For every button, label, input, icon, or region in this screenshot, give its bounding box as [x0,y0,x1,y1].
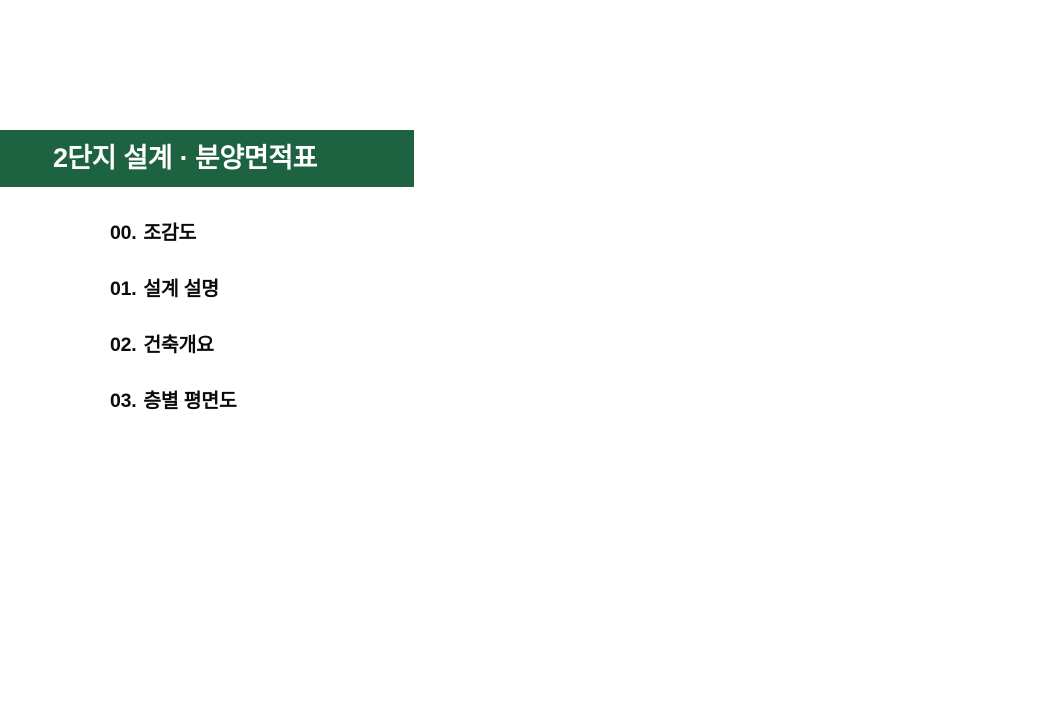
toc-item-number: 01. [110,276,137,302]
toc-item-label: 층별 평면도 [144,388,237,414]
toc-item-number: 02. [110,332,137,358]
section-title-bar: 2단지 설계 · 분양면적표 [0,130,414,187]
toc-item-label: 조감도 [144,220,197,246]
toc-item-3[interactable]: 03. 층별 평면도 [110,388,530,444]
toc-item-label: 건축개요 [144,332,215,358]
slide-canvas: 2단지 설계 · 분양면적표 00. 조감도 01. 설계 설명 02. 건축개… [0,0,1040,720]
toc-item-1[interactable]: 01. 설계 설명 [110,276,530,332]
page-title: 2단지 설계 · 분양면적표 [53,145,317,172]
toc-item-number: 00. [110,220,137,246]
toc-item-label: 설계 설명 [144,276,220,302]
toc-item-number: 03. [110,388,137,414]
toc-item-0[interactable]: 00. 조감도 [110,220,530,276]
toc-item-2[interactable]: 02. 건축개요 [110,332,530,388]
table-of-contents: 00. 조감도 01. 설계 설명 02. 건축개요 03. 층별 평면도 [110,220,530,444]
